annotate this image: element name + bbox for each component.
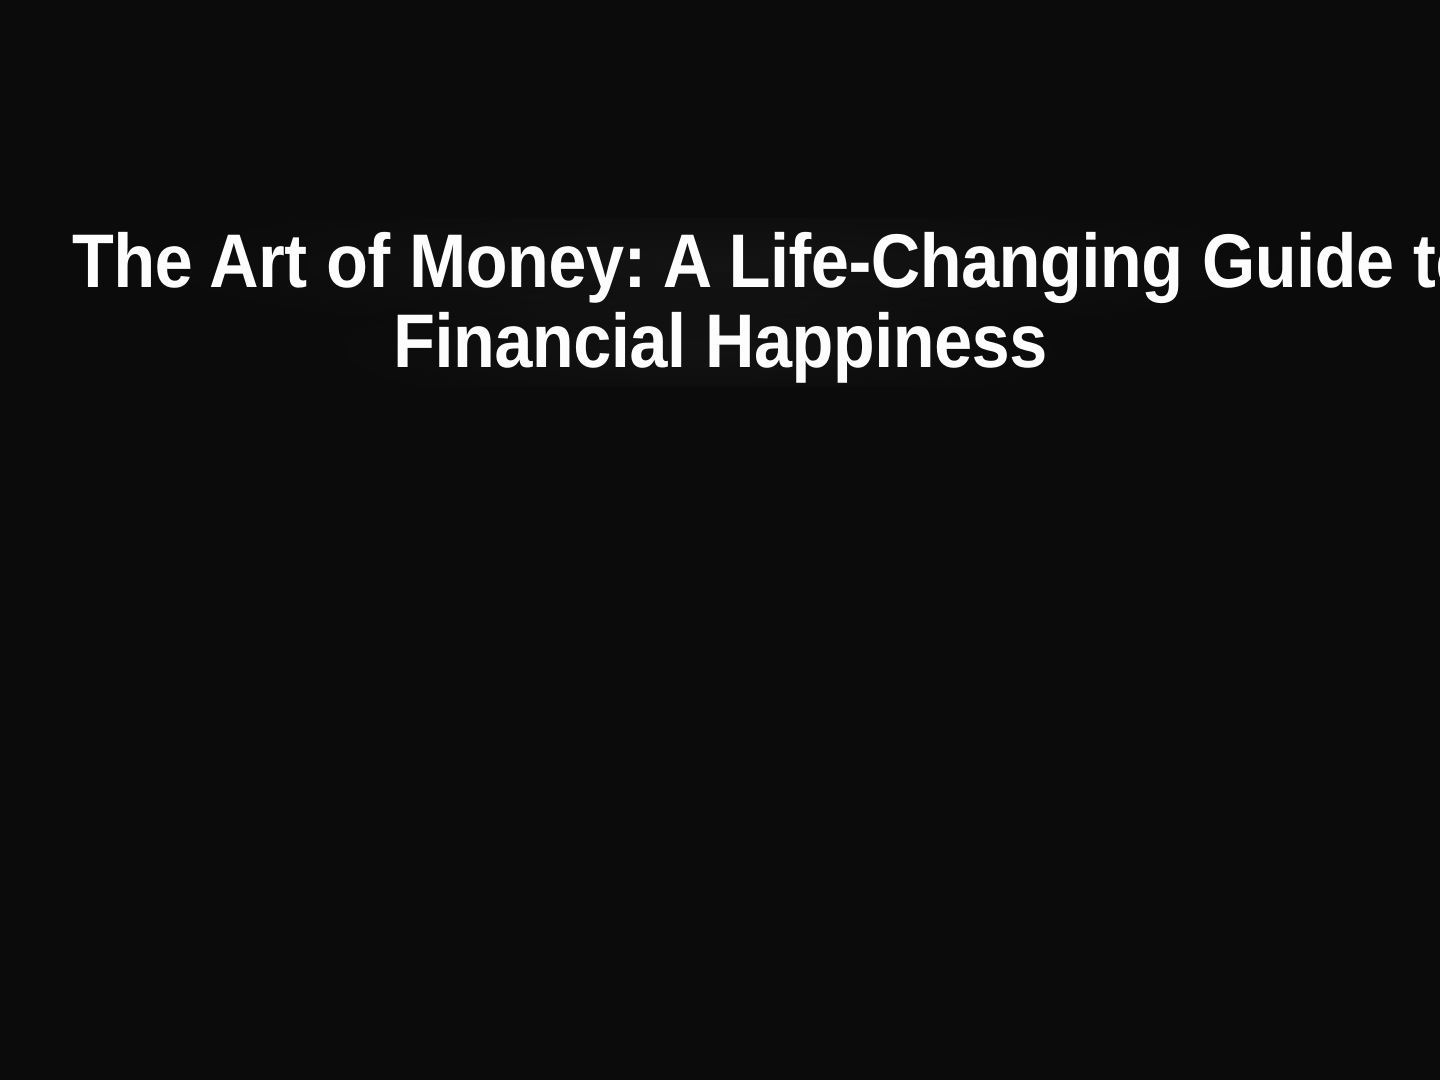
cover-title-block: The Art of Money: A Life-Changing Guide … <box>0 0 1440 382</box>
cover-title-line-2: Financial Happiness <box>72 302 1368 382</box>
page-title: The Art of Money: A Life-Changing Guide … <box>72 222 1368 382</box>
book-cover: The Art of Money: A Life-Changing Guide … <box>0 0 1440 1080</box>
cover-title-line-1: The Art of Money: A Life-Changing Guide … <box>72 222 1368 302</box>
